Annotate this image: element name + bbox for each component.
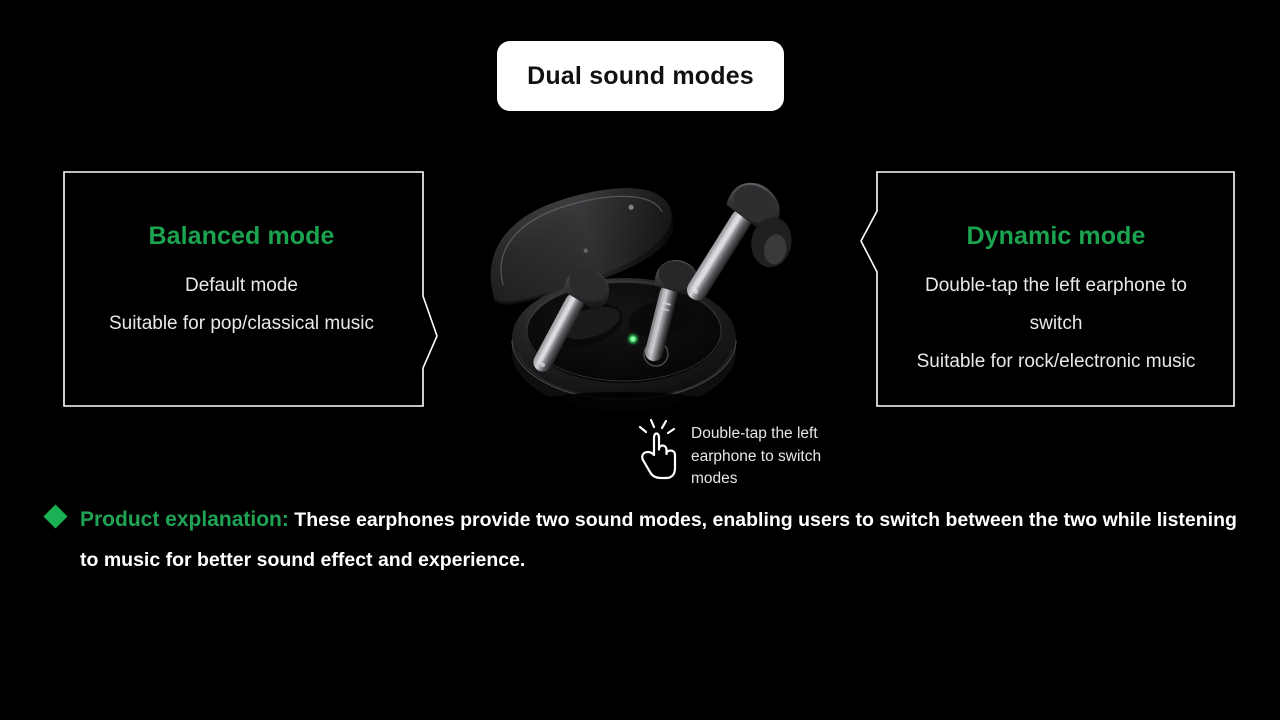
tap-hint: Double-tap the left earphone to switch m… — [633, 418, 863, 496]
tap-hand-icon — [633, 418, 681, 480]
tap-hint-caption: Double-tap the left earphone to switch m… — [691, 423, 856, 491]
page-title: Dual sound modes — [527, 64, 754, 89]
dynamic-mode-line-1: Double-tap the left earphone to switch — [904, 267, 1209, 343]
slide-title-pill: Dual sound modes — [497, 41, 784, 111]
slide-canvas: Dual sound modes Balanced mode Default m… — [0, 0, 1280, 720]
balanced-mode-heading: Balanced mode — [148, 224, 334, 249]
balanced-mode-line-2: Suitable for pop/classical music — [109, 305, 374, 343]
explanation-paragraph: Product explanation: These earphones pro… — [45, 500, 1245, 580]
balanced-mode-line-1: Default mode — [185, 267, 298, 305]
explanation-label: Product explanation: — [80, 508, 289, 531]
product-explanation: Product explanation: These earphones pro… — [45, 500, 1245, 580]
dynamic-mode-line-2: Suitable for rock/electronic music — [917, 343, 1196, 381]
panel-dynamic-mode: Dynamic mode Double-tap the left earphon… — [858, 171, 1235, 407]
earbuds-illustration — [466, 176, 816, 426]
dynamic-mode-heading: Dynamic mode — [966, 224, 1145, 249]
product-image-earbuds-case — [466, 176, 816, 426]
panel-balanced-mode: Balanced mode Default mode Suitable for … — [63, 171, 438, 407]
